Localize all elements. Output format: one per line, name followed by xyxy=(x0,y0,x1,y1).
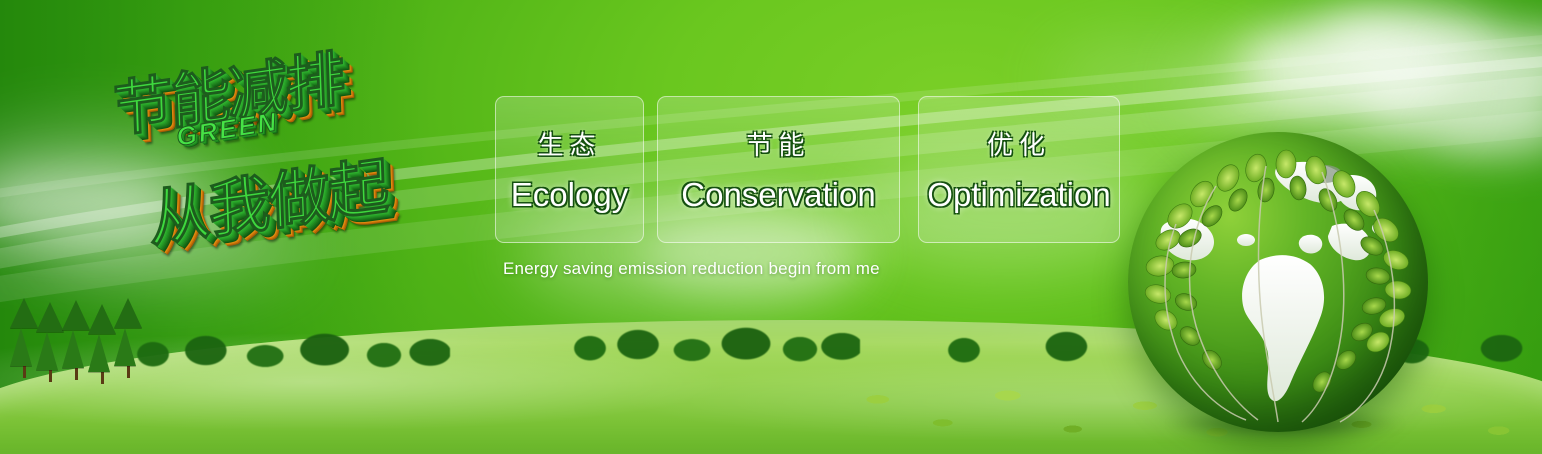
card-title-en: Optimization xyxy=(927,176,1110,214)
card-title-cn: 生态 xyxy=(537,125,601,162)
card-title-en: Ecology xyxy=(511,176,628,214)
card-title-en: Conservation xyxy=(681,176,875,214)
globe-continents xyxy=(1128,132,1428,432)
card-title-cn: 优化 xyxy=(987,125,1051,162)
feature-card-conservation[interactable]: 节能 Conservation xyxy=(657,96,900,243)
green-energy-banner: 节能减排 GREEN 从我做起 生态 Ecology 节能 Conservati… xyxy=(0,0,1542,454)
earth-globe xyxy=(1128,132,1428,432)
card-title-cn: 节能 xyxy=(746,125,810,162)
pine-tree xyxy=(36,318,64,382)
pine-tree xyxy=(88,320,116,384)
headline-line-2: 从我做起 xyxy=(148,135,389,259)
pine-tree xyxy=(62,316,90,380)
treeline-mid xyxy=(560,316,860,362)
pine-tree xyxy=(114,314,142,378)
pine-tree xyxy=(10,314,38,378)
feature-card-ecology[interactable]: 生态 Ecology xyxy=(495,96,644,243)
headline-3d: 节能减排 GREEN 从我做起 xyxy=(104,40,484,270)
feature-card-optimization[interactable]: 优化 Optimization xyxy=(918,96,1120,243)
treeline-left xyxy=(120,322,450,368)
tagline: Energy saving emission reduction begin f… xyxy=(503,259,880,279)
